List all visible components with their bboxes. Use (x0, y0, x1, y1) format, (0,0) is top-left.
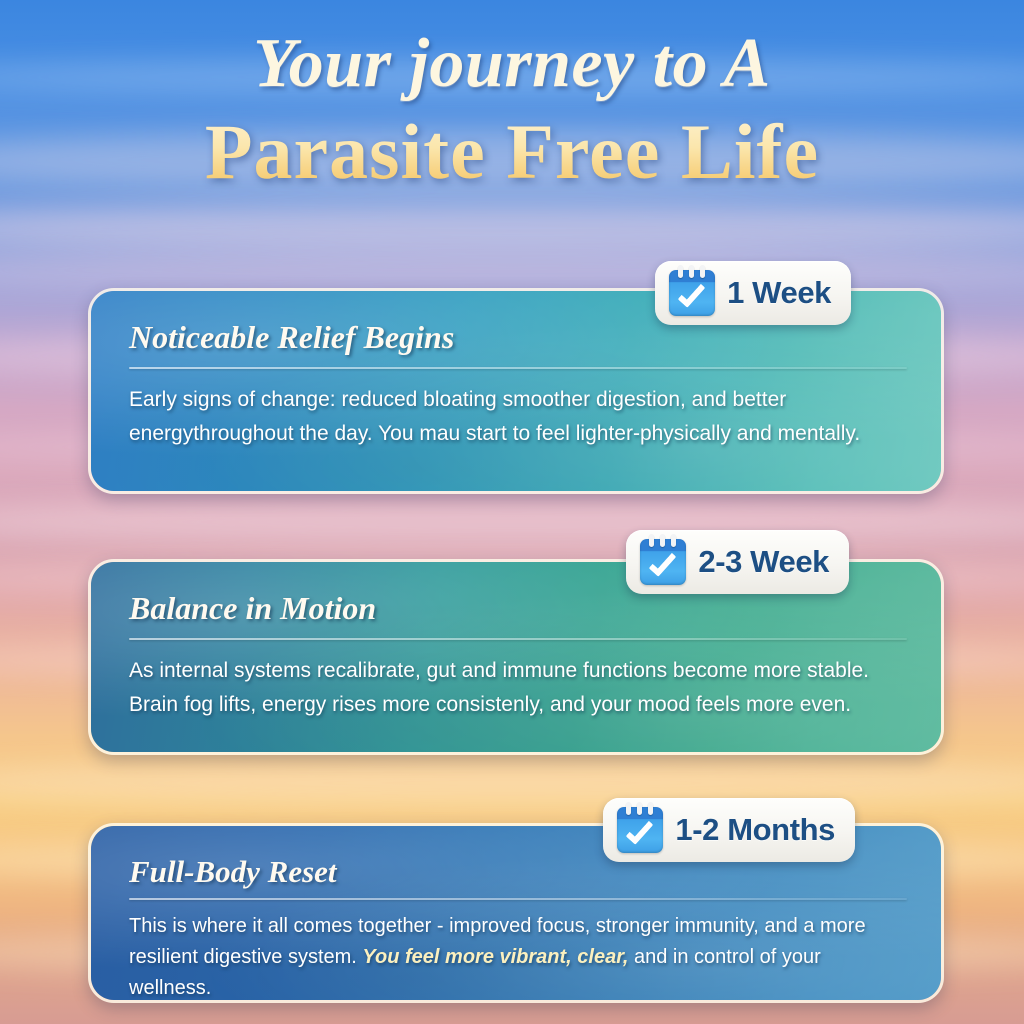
title-line-two: Parasite Free Life (0, 106, 1024, 198)
card-divider (129, 898, 907, 900)
card-title: Balance in Motion (129, 588, 907, 628)
calendar-check-icon (640, 539, 686, 585)
cloud-band (0, 500, 1024, 544)
card-body: This is where it all comes together - im… (129, 911, 907, 1000)
calendar-check-icon (617, 807, 663, 853)
timeline-badge-2: 2-3 Week (626, 530, 849, 594)
timeline-card-1[interactable]: 1 Week Noticeable Relief Begins Early si… (88, 288, 944, 494)
badge-label: 1 Week (727, 275, 831, 311)
cloud-band (0, 205, 1024, 251)
badge-label: 1-2 Months (675, 812, 835, 848)
cloud-band (0, 760, 1024, 806)
card-body: As internal systems recalibrate, gut and… (129, 654, 907, 722)
poster-canvas: Your journey to A Parasite Free Life 1 W… (0, 0, 1024, 1024)
title-line-one: Your journey to A (0, 22, 1024, 106)
card-body-highlight: You feel more vibrant, clear, (362, 946, 628, 968)
timeline-badge-1: 1 Week (655, 261, 851, 325)
card-divider (129, 638, 907, 640)
cloud-band (0, 250, 1024, 290)
timeline-card-3[interactable]: 1-2 Months Full-Body Reset This is where… (88, 823, 944, 1003)
poster-title: Your journey to A Parasite Free Life (0, 22, 1024, 198)
card-divider (129, 367, 907, 369)
timeline-badge-3: 1-2 Months (603, 798, 855, 862)
calendar-check-icon (669, 270, 715, 316)
timeline-card-2[interactable]: 2-3 Week Balance in Motion As internal s… (88, 559, 944, 755)
card-body: Early signs of change: reduced bloating … (129, 383, 907, 451)
badge-label: 2-3 Week (698, 544, 829, 580)
